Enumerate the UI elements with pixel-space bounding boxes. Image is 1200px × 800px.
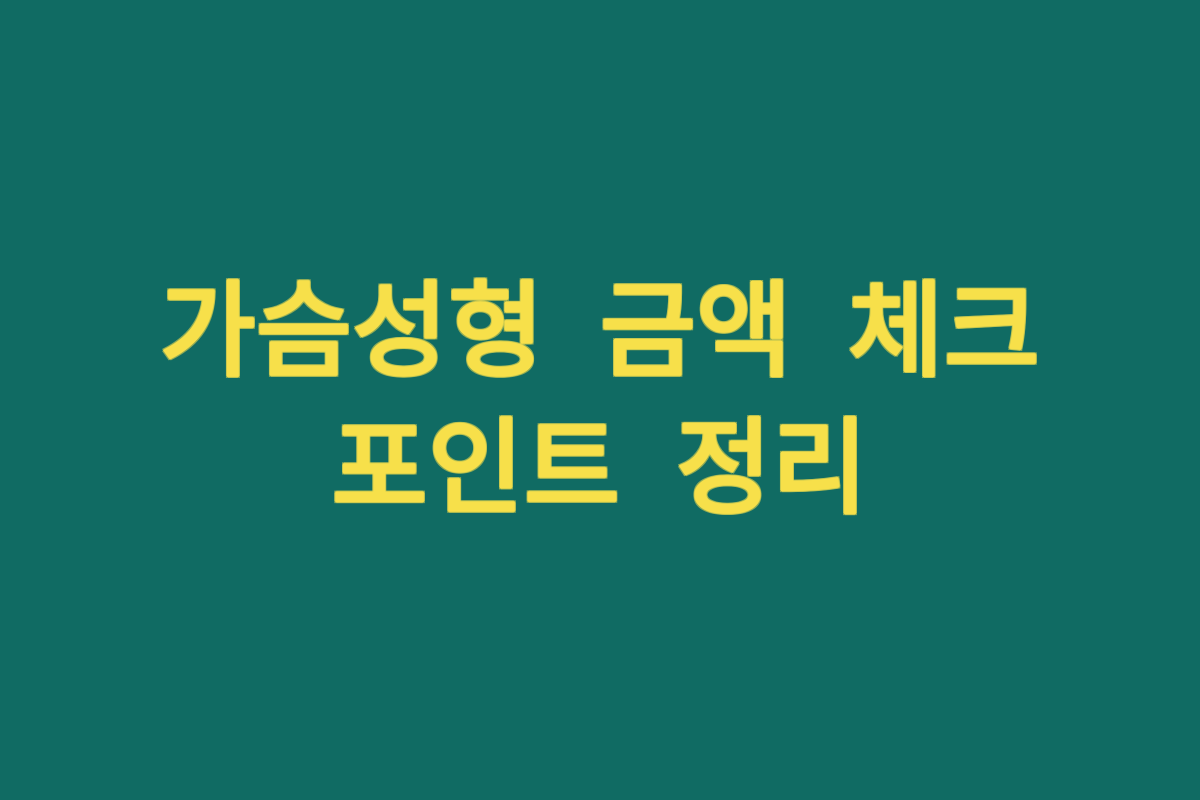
banner-title: 가슴성형 금액 체크 포인트 정리 [65,263,1135,538]
title-banner: 가슴성형 금액 체크 포인트 정리 [0,0,1200,800]
banner-text-block: 가슴성형 금액 체크 포인트 정리 [65,263,1135,538]
